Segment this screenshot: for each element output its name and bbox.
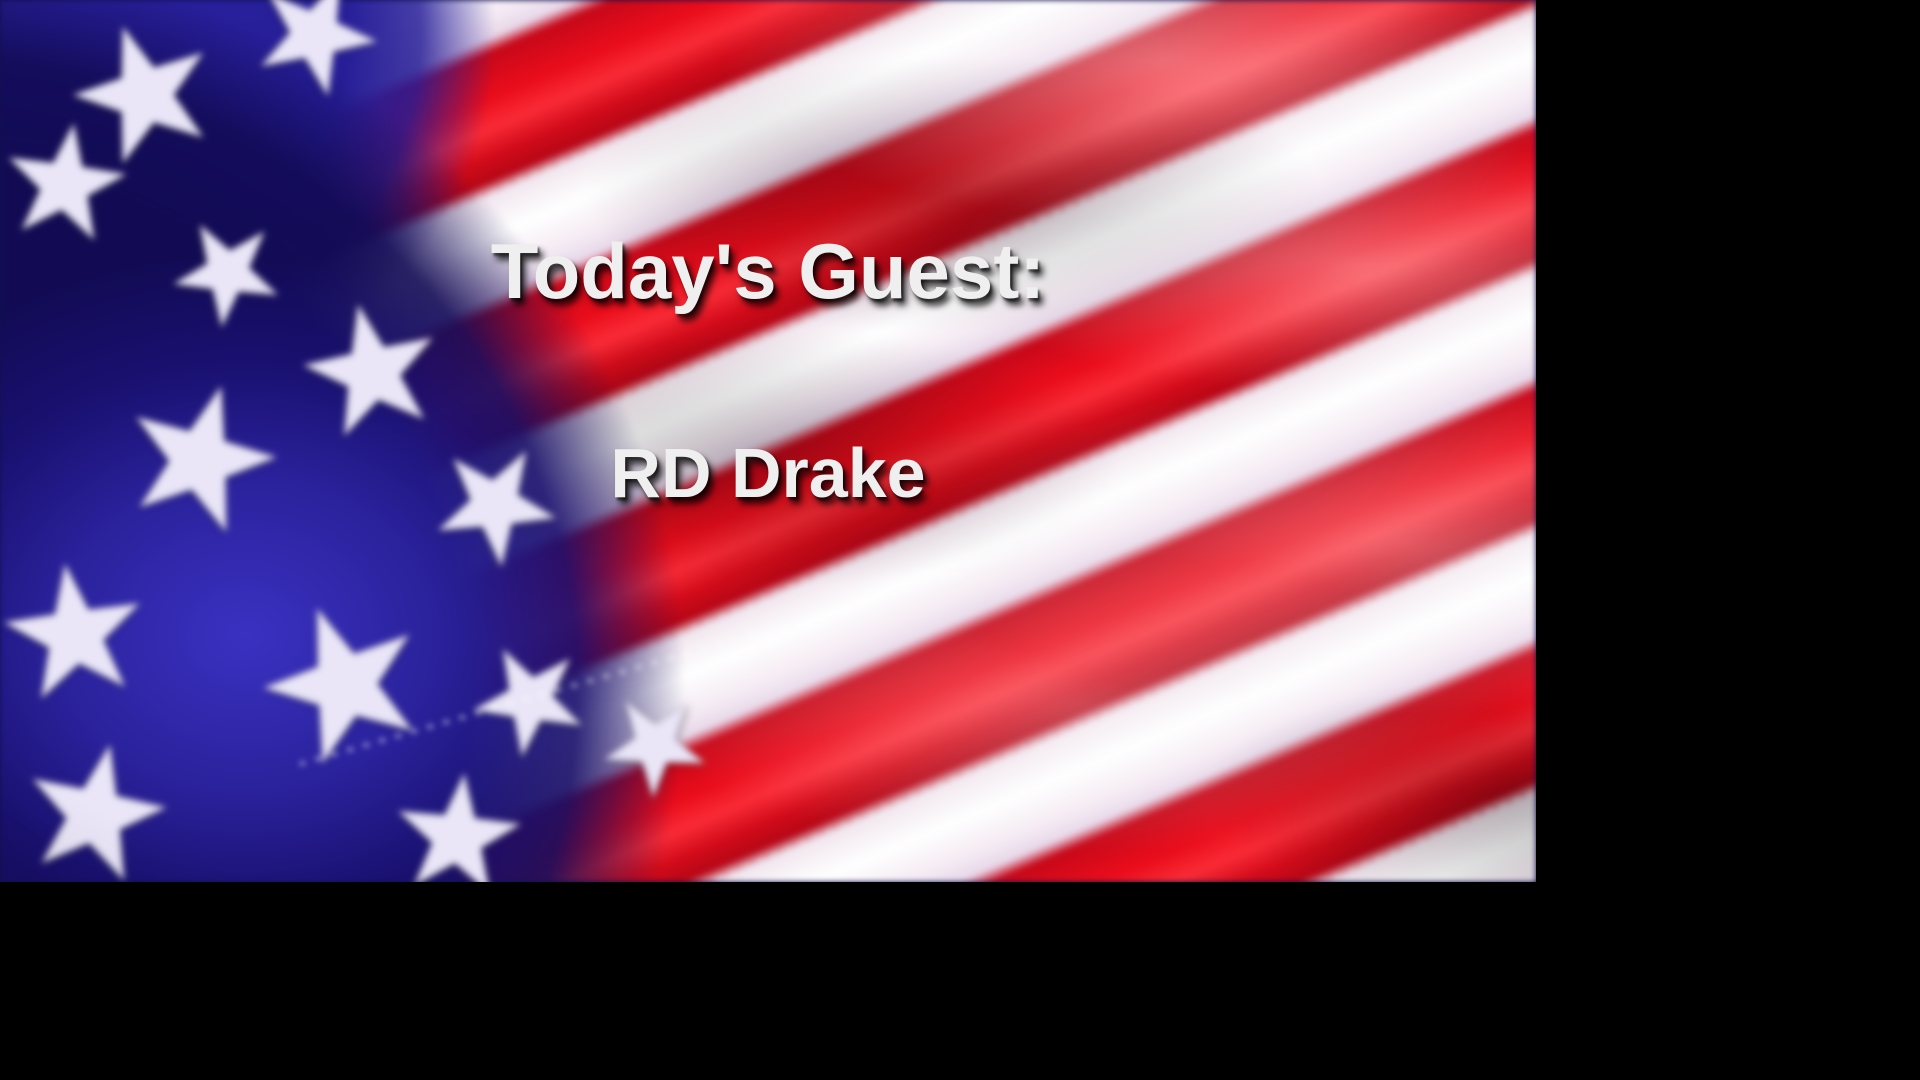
flag-star-icon bbox=[579, 669, 732, 822]
flag-star-icon bbox=[101, 361, 299, 559]
flag-star-icon bbox=[287, 287, 459, 459]
flag-star-icon bbox=[236, 576, 454, 794]
flag-star-icon bbox=[406, 416, 584, 594]
flag-star-icon bbox=[6, 726, 184, 882]
flag-star-icon bbox=[229, 0, 401, 121]
flag-star-icon bbox=[146, 191, 308, 353]
video-frame: Today's Guest: RD Drake bbox=[0, 0, 1536, 882]
flag-star-icon bbox=[0, 112, 138, 259]
flag-star-icon bbox=[0, 550, 160, 719]
flag-star-icon bbox=[383, 763, 531, 882]
flag-background bbox=[0, 0, 1536, 882]
